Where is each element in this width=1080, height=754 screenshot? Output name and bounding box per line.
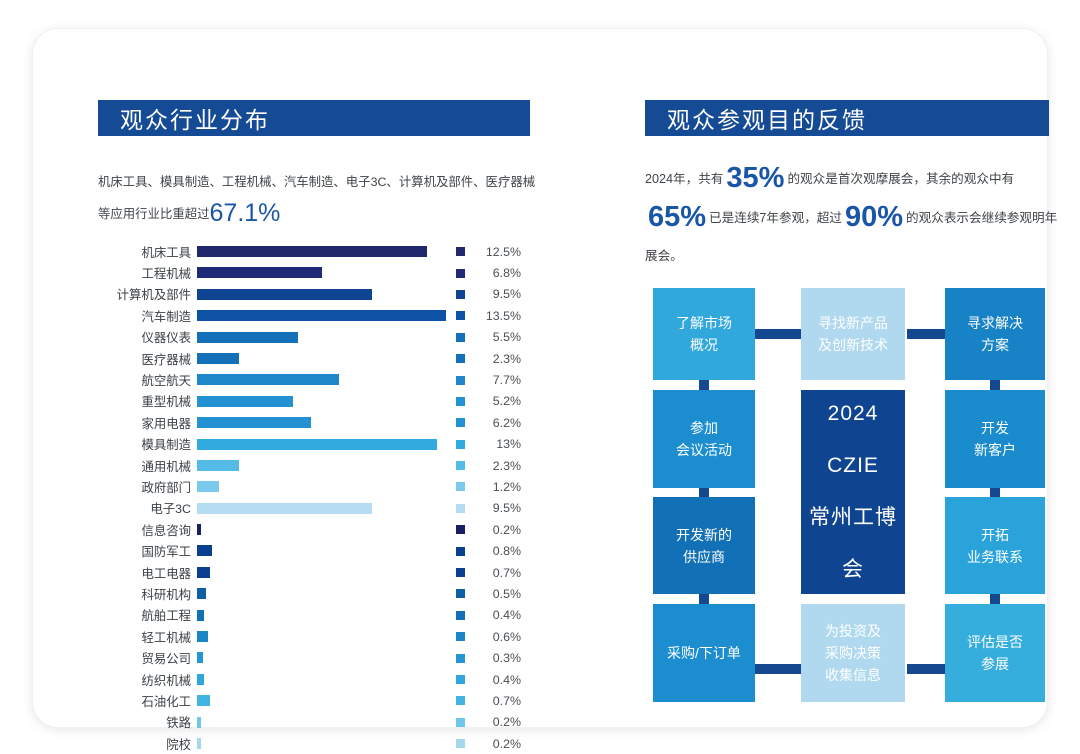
bar-track: [197, 583, 455, 604]
bar-track: [197, 476, 455, 497]
bar-value-label: 6.2%: [475, 416, 521, 430]
bar-category-label: 信息咨询: [93, 521, 197, 539]
bar-category-label: 科研机构: [93, 585, 197, 603]
flow-box-center-brand[interactable]: 2024CZIE常州工博会: [801, 390, 905, 594]
bar-fill: [197, 588, 206, 599]
flow-box-b9[interactable]: 为投资及 采购决策 收集信息: [801, 604, 905, 702]
bar-row: 贸易公司0.3%: [93, 647, 543, 668]
bar-fill: [197, 396, 293, 407]
bar-value-label: 13%: [475, 437, 521, 451]
bar-fill: [197, 674, 204, 685]
bar-track: [197, 690, 455, 711]
bar-category-label: 电子3C: [93, 499, 197, 517]
bar-legend-swatch: [456, 376, 465, 385]
bar-legend-swatch: [456, 397, 465, 406]
bar-value-label: 0.2%: [475, 523, 521, 537]
bar-track: [197, 562, 455, 583]
bar-category-label: 政府部门: [93, 478, 197, 496]
bar-row: 铁路0.2%: [93, 712, 543, 733]
bar-value-label: 2.3%: [475, 459, 521, 473]
flow-connector-horizontal: [755, 329, 801, 339]
bar-value-label: 1.2%: [475, 480, 521, 494]
center-line-name: 常州工博会: [801, 492, 905, 596]
bar-row: 模具制造13%: [93, 434, 543, 455]
bar-fill: [197, 332, 298, 343]
bar-fill: [197, 374, 339, 385]
bar-fill: [197, 353, 239, 364]
bar-track: [197, 348, 455, 369]
bar-fill: [197, 610, 204, 621]
bar-fill: [197, 652, 203, 663]
bar-value-label: 0.7%: [475, 694, 521, 708]
bar-track: [197, 284, 455, 305]
flow-box-b7[interactable]: 开拓 业务联系: [945, 497, 1045, 594]
bar-fill: [197, 481, 219, 492]
bar-category-label: 贸易公司: [93, 649, 197, 667]
bar-legend-swatch: [456, 718, 465, 727]
bar-fill: [197, 545, 212, 556]
bar-fill: [197, 717, 201, 728]
bar-legend-swatch: [456, 461, 465, 470]
right-panel-title-bar: 观众参观目的反馈: [645, 100, 1049, 136]
right-panel-title: 观众参观目的反馈: [645, 101, 867, 135]
bar-legend-swatch: [456, 568, 465, 577]
bar-category-label: 纺织机械: [93, 671, 197, 689]
bar-row: 纺织机械0.4%: [93, 669, 543, 690]
center-line-code: CZIE: [827, 440, 879, 492]
bar-row: 仪器仪表5.5%: [93, 327, 543, 348]
bar-row: 工程机械6.8%: [93, 262, 543, 283]
bar-legend-swatch: [456, 311, 465, 320]
bar-legend-swatch: [456, 418, 465, 427]
bar-row: 电工电器0.7%: [93, 562, 543, 583]
bar-value-label: 0.6%: [475, 630, 521, 644]
bar-track: [197, 605, 455, 626]
right-text-1: 2024年，共有: [645, 172, 723, 186]
left-subtitle-text: 机床工具、模具制造、工程机械、汽车制造、电子3C、计算机及部件、医疗器械等应用行…: [98, 175, 535, 221]
bar-row: 重型机械5.2%: [93, 391, 543, 412]
bar-fill: [197, 267, 322, 278]
bar-value-label: 0.2%: [475, 715, 521, 729]
bar-track: [197, 262, 455, 283]
bar-category-label: 工程机械: [93, 264, 197, 282]
bar-legend-swatch: [456, 547, 465, 556]
bar-row: 机床工具12.5%: [93, 241, 543, 262]
bar-category-label: 医疗器械: [93, 350, 197, 368]
bar-value-label: 6.8%: [475, 266, 521, 280]
bar-category-label: 重型机械: [93, 392, 197, 410]
bar-row: 汽车制造13.5%: [93, 305, 543, 326]
bar-fill: [197, 524, 201, 535]
bar-value-label: 5.2%: [475, 394, 521, 408]
bar-track: [197, 669, 455, 690]
bar-row: 电子3C9.5%: [93, 498, 543, 519]
bar-value-label: 7.7%: [475, 373, 521, 387]
bar-fill: [197, 417, 311, 428]
right-text-2: 的观众是首次观摩展会，其余的观众中有: [787, 172, 1014, 186]
bar-row: 科研机构0.5%: [93, 583, 543, 604]
bar-value-label: 13.5%: [475, 309, 521, 323]
bar-category-label: 院校: [93, 735, 197, 753]
bar-value-label: 12.5%: [475, 245, 521, 259]
bar-legend-swatch: [456, 696, 465, 705]
stat-65: 65%: [645, 201, 709, 233]
bar-legend-swatch: [456, 354, 465, 363]
bar-track: [197, 455, 455, 476]
left-panel-title-bar: 观众行业分布: [98, 100, 530, 136]
bar-track: [197, 626, 455, 647]
bar-track: [197, 540, 455, 561]
flow-box-b5[interactable]: 开发 新客户: [945, 390, 1045, 488]
bar-track: [197, 241, 455, 262]
bar-legend-swatch: [456, 333, 465, 342]
bar-category-label: 通用机械: [93, 457, 197, 475]
bar-fill: [197, 439, 437, 450]
bar-legend-swatch: [456, 504, 465, 513]
flow-connector-horizontal: [755, 664, 801, 674]
flow-connector-horizontal: [907, 664, 945, 674]
bar-value-label: 9.5%: [475, 287, 521, 301]
flow-box-b8[interactable]: 采购/下订单: [653, 604, 755, 702]
bar-category-label: 航空航天: [93, 371, 197, 389]
bar-row: 政府部门1.2%: [93, 476, 543, 497]
bar-value-label: 0.5%: [475, 587, 521, 601]
flow-box-b2[interactable]: 寻找新产品 及创新技术: [801, 288, 905, 380]
bar-legend-swatch: [456, 654, 465, 663]
bar-value-label: 0.2%: [475, 737, 521, 751]
bar-value-label: 0.7%: [475, 566, 521, 580]
bar-track: [197, 712, 455, 733]
bar-row: 通用机械2.3%: [93, 455, 543, 476]
bar-value-label: 0.8%: [475, 544, 521, 558]
bar-row: 石油化工0.7%: [93, 690, 543, 711]
bar-row: 航空航天7.7%: [93, 369, 543, 390]
flow-box-b10[interactable]: 评估是否 参展: [945, 604, 1045, 702]
bar-fill: [197, 503, 372, 514]
bar-legend-swatch: [456, 611, 465, 620]
industry-bar-chart: 机床工具12.5%工程机械6.8%计算机及部件9.5%汽车制造13.5%仪器仪表…: [93, 241, 543, 754]
bar-fill: [197, 310, 446, 321]
bar-fill: [197, 460, 239, 471]
bar-category-label: 机床工具: [93, 243, 197, 261]
bar-category-label: 计算机及部件: [93, 285, 197, 303]
bar-value-label: 9.5%: [475, 501, 521, 515]
bar-fill: [197, 246, 427, 257]
bar-row: 家用电器6.2%: [93, 412, 543, 433]
bar-legend-swatch: [456, 525, 465, 534]
bar-track: [197, 434, 455, 455]
bar-row: 轻工机械0.6%: [93, 626, 543, 647]
left-panel-subtitle: 机床工具、模具制造、工程机械、汽车制造、电子3C、计算机及部件、医疗器械等应用行…: [98, 167, 538, 230]
bar-value-label: 0.3%: [475, 651, 521, 665]
visit-purpose-flow-grid: 了解市场 概况寻找新产品 及创新技术寻求解决 方案参加 会议活动开发 新客户开发…: [645, 284, 1049, 706]
bar-track: [197, 647, 455, 668]
main-card: 观众行业分布 机床工具、模具制造、工程机械、汽车制造、电子3C、计算机及部件、医…: [32, 28, 1048, 728]
right-panel-paragraph: 2024年，共有35%的观众是首次观摩展会，其余的观众中有65%已是连续7年参观…: [645, 159, 1063, 275]
bar-track: [197, 327, 455, 348]
bar-value-label: 0.4%: [475, 673, 521, 687]
bar-row: 国防军工0.8%: [93, 540, 543, 561]
bar-category-label: 铁路: [93, 713, 197, 731]
bar-row: 信息咨询0.2%: [93, 519, 543, 540]
bar-track: [197, 305, 455, 326]
bar-legend-swatch: [456, 290, 465, 299]
bar-legend-swatch: [456, 269, 465, 278]
bar-row: 院校0.2%: [93, 733, 543, 754]
flow-box-b6[interactable]: 开发新的 供应商: [653, 497, 755, 594]
bar-fill: [197, 738, 201, 749]
bar-category-label: 石油化工: [93, 692, 197, 710]
bar-legend-swatch: [456, 589, 465, 598]
bar-category-label: 仪器仪表: [93, 328, 197, 346]
bar-category-label: 家用电器: [93, 414, 197, 432]
bar-category-label: 汽车制造: [93, 307, 197, 325]
bar-category-label: 航舶工程: [93, 606, 197, 624]
bar-fill: [197, 567, 210, 578]
bar-track: [197, 519, 455, 540]
bar-legend-swatch: [456, 739, 465, 748]
stat-35: 35%: [723, 162, 787, 194]
left-panel-title: 观众行业分布: [98, 101, 270, 135]
stat-90: 90%: [842, 201, 906, 233]
center-line-year: 2024: [828, 388, 879, 440]
bar-category-label: 模具制造: [93, 435, 197, 453]
bar-row: 计算机及部件9.5%: [93, 284, 543, 305]
bar-value-label: 0.4%: [475, 608, 521, 622]
bar-fill: [197, 631, 208, 642]
flow-box-b3[interactable]: 寻求解决 方案: [945, 288, 1045, 380]
bar-track: [197, 733, 455, 754]
bar-legend-swatch: [456, 675, 465, 684]
bar-category-label: 国防军工: [93, 542, 197, 560]
bar-legend-swatch: [456, 482, 465, 491]
bar-track: [197, 412, 455, 433]
bar-value-label: 5.5%: [475, 330, 521, 344]
bar-fill: [197, 695, 210, 706]
bar-track: [197, 369, 455, 390]
flow-box-b4[interactable]: 参加 会议活动: [653, 390, 755, 488]
bar-fill: [197, 289, 372, 300]
flow-connector-horizontal: [907, 329, 945, 339]
bar-legend-swatch: [456, 632, 465, 641]
bar-track: [197, 498, 455, 519]
bar-row: 航舶工程0.4%: [93, 605, 543, 626]
bar-category-label: 电工电器: [93, 564, 197, 582]
bar-value-label: 2.3%: [475, 352, 521, 366]
left-subtitle-highlight: 67.1%: [210, 199, 281, 227]
flow-box-b1[interactable]: 了解市场 概况: [653, 288, 755, 380]
bar-legend-swatch: [456, 440, 465, 449]
right-text-3: 已是连续7年参观，超过: [709, 211, 842, 225]
bar-legend-swatch: [456, 247, 465, 256]
bar-row: 医疗器械2.3%: [93, 348, 543, 369]
bar-category-label: 轻工机械: [93, 628, 197, 646]
bar-track: [197, 391, 455, 412]
